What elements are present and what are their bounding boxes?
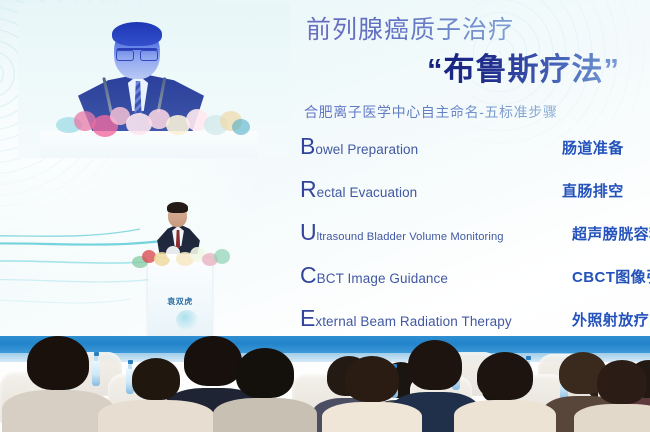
step-chinese-label: 直肠排空: [562, 180, 624, 201]
step-chinese-label: 外照射放疗: [572, 309, 649, 330]
stage-flower-arrangement: [130, 242, 234, 274]
audience-member: [108, 368, 204, 432]
step-row-external-beam-radiation-therapy: External Beam Radiation Therapy 外照射放疗: [300, 305, 650, 337]
podium-name-plate: 袁双虎: [156, 296, 204, 307]
step-rest-text: xternal Beam Radiation Therapy: [315, 314, 511, 329]
audience-member: [330, 372, 414, 432]
step-chinese-label: 超声膀胱容积: [572, 223, 650, 244]
bruce-steps-list: Bowel Preparation 肠道准备 Rectal Evacuation…: [300, 133, 650, 348]
step-row-bowel-preparation: Bowel Preparation 肠道准备: [300, 133, 650, 165]
projection-screen: 前列腺癌质子治疗 “布鲁斯疗法” 合肥离子医学中心自主命名-五标准步骤 Bowe…: [0, 0, 650, 340]
step-english-text: External Beam Radiation Therapy: [300, 305, 512, 332]
audience-member: [222, 366, 308, 432]
step-row-rectal-evacuation: Rectal Evacuation 直肠排空: [300, 176, 650, 208]
slide-title-accent: “布鲁斯疗法”: [427, 44, 620, 89]
step-rest-text: ltrasound Bladder Volume Monitoring: [317, 231, 504, 243]
audience-area: [0, 336, 650, 432]
slide-title-main: 前列腺癌质子治疗: [306, 10, 514, 46]
audience-member: [462, 370, 548, 432]
step-rest-text: owel Preparation: [315, 142, 418, 157]
stage-speaker-scene: 袁双虎: [0, 150, 330, 340]
speaker-hair: [167, 202, 188, 213]
audience-member: [582, 374, 650, 432]
step-row-cbct-image-guidance: CBCT Image Guidance CBCT图像引: [300, 262, 650, 294]
podium-logo: [157, 272, 203, 288]
audience-member: [12, 358, 104, 432]
step-chinese-label: CBCT图像引: [572, 266, 650, 287]
step-english-text: Ultrasound Bladder Volume Monitoring: [300, 219, 504, 246]
slide-subtitle: 合肥离子医学中心自主命名-五标准步骤: [304, 102, 557, 122]
conference-photo: 前列腺癌质子治疗 “布鲁斯疗法” 合肥离子医学中心自主命名-五标准步骤 Bowe…: [0, 0, 650, 432]
step-rest-text: BCT Image Guidance: [317, 271, 448, 286]
step-rest-text: ectal Evacuation: [317, 185, 418, 200]
podium-watermark-icon: [176, 310, 198, 330]
step-chinese-label: 肠道准备: [562, 137, 624, 158]
step-row-ultrasound-bladder-volume-monitoring: Ultrasound Bladder Volume Monitoring 超声膀…: [300, 219, 650, 251]
